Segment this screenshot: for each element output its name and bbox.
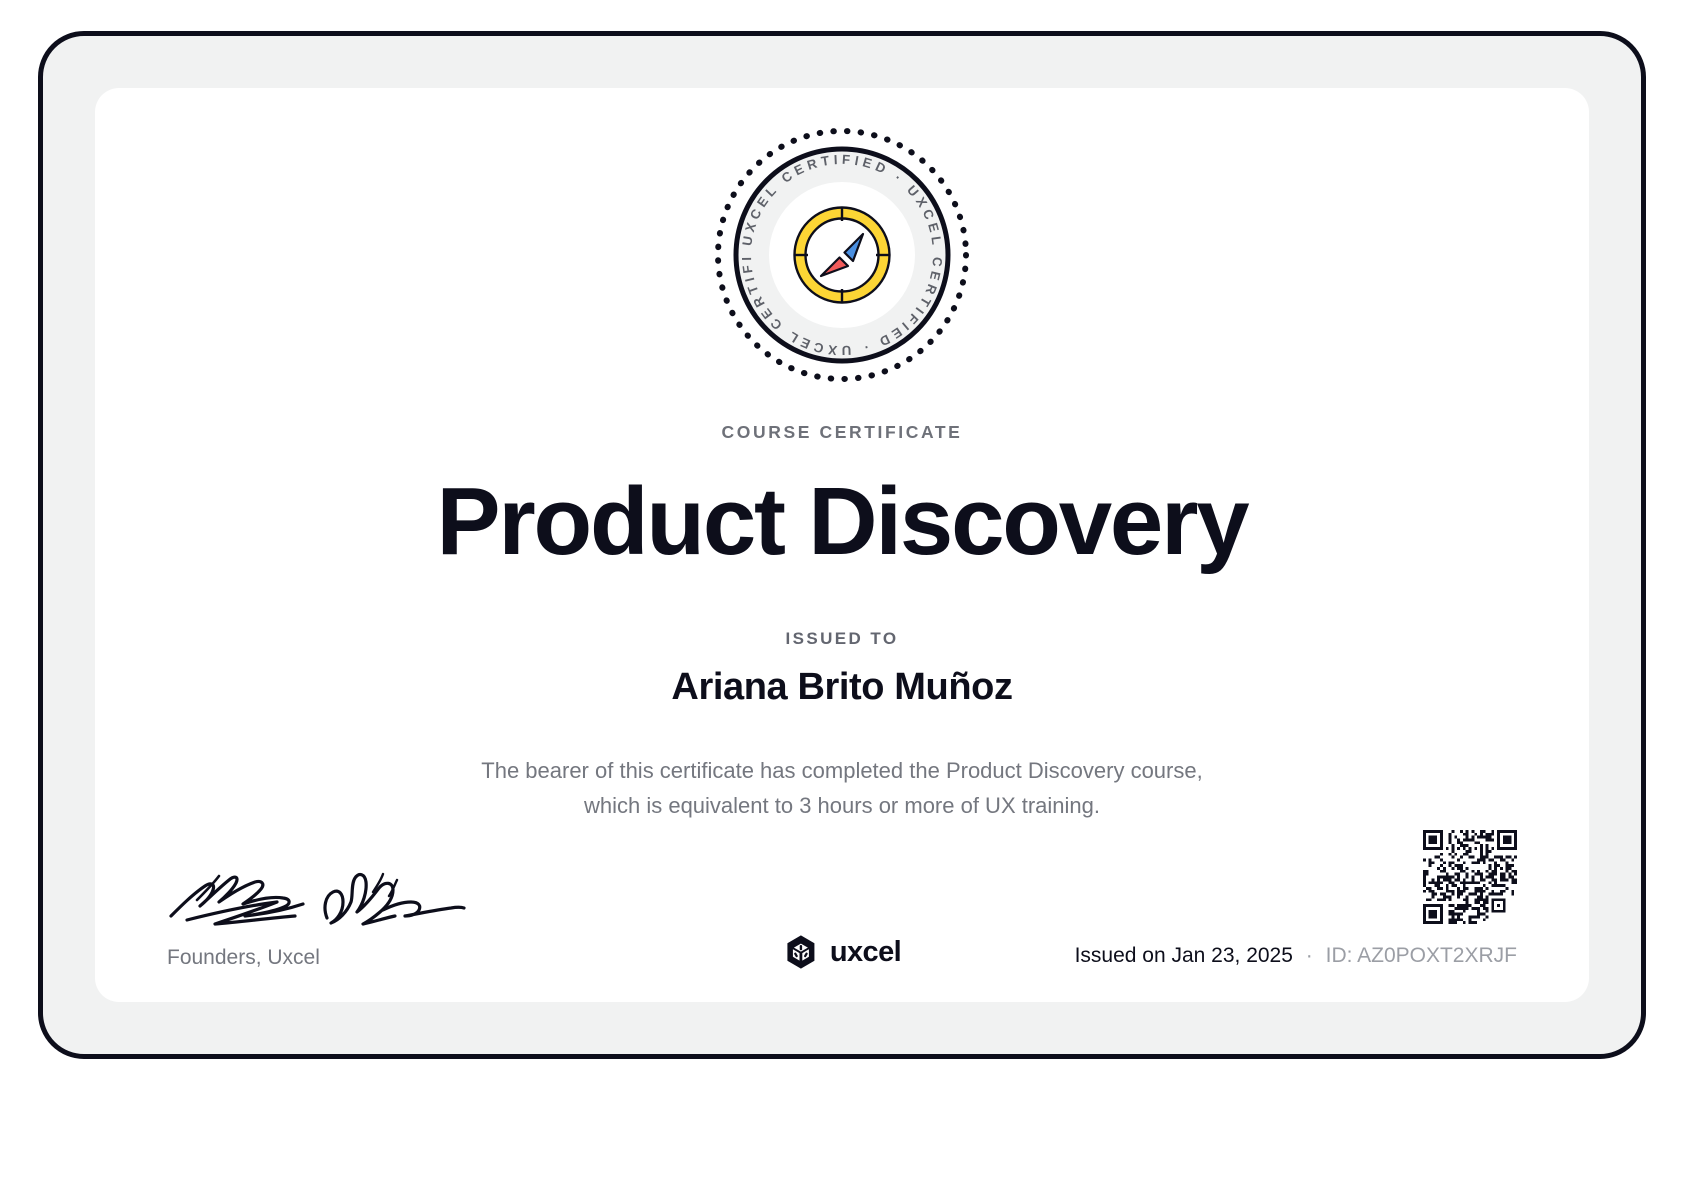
signature-role-label: Founders, Uxcel [167, 946, 320, 970]
uxcel-brand: uxcel [783, 934, 901, 970]
certificate-description: The bearer of this certificate has compl… [95, 753, 1589, 823]
qr-code-graphic [1423, 830, 1517, 924]
issued-on-text: Issued on Jan 23, 2025 [1075, 944, 1293, 967]
uxcel-logo-icon [783, 934, 819, 970]
issue-metadata: Issued on Jan 23, 2025 · ID: AZ0POXT2XRJ… [1075, 944, 1517, 968]
eyebrow-label: COURSE CERTIFICATE [95, 422, 1589, 443]
recipient-name: Ariana Brito Muñoz [95, 666, 1589, 709]
description-line-2: which is equivalent to 3 hours or more o… [95, 788, 1589, 823]
certification-seal: UXCEL CERTIFIED · UXCEL CERTIFIED · UXCE… [711, 124, 973, 386]
issued-to-label: ISSUED TO [95, 629, 1589, 649]
signature-graphic [167, 840, 467, 930]
meta-separator: · [1306, 944, 1313, 967]
founder-signatures [167, 840, 467, 930]
seal-graphic: UXCEL CERTIFIED · UXCEL CERTIFIED · UXCE… [711, 124, 973, 386]
description-line-1: The bearer of this certificate has compl… [95, 753, 1589, 788]
uxcel-brand-name: uxcel [830, 936, 901, 969]
certificate-id: ID: AZ0POXT2XRJF [1326, 944, 1517, 967]
verification-qr-code[interactable] [1423, 830, 1517, 924]
certificate-card: UXCEL CERTIFIED · UXCEL CERTIFIED · UXCE… [95, 88, 1589, 1002]
certificate-frame: UXCEL CERTIFIED · UXCEL CERTIFIED · UXCE… [38, 31, 1646, 1059]
seal-inner-disc [769, 182, 915, 328]
page-title: Product Discovery [95, 464, 1589, 580]
